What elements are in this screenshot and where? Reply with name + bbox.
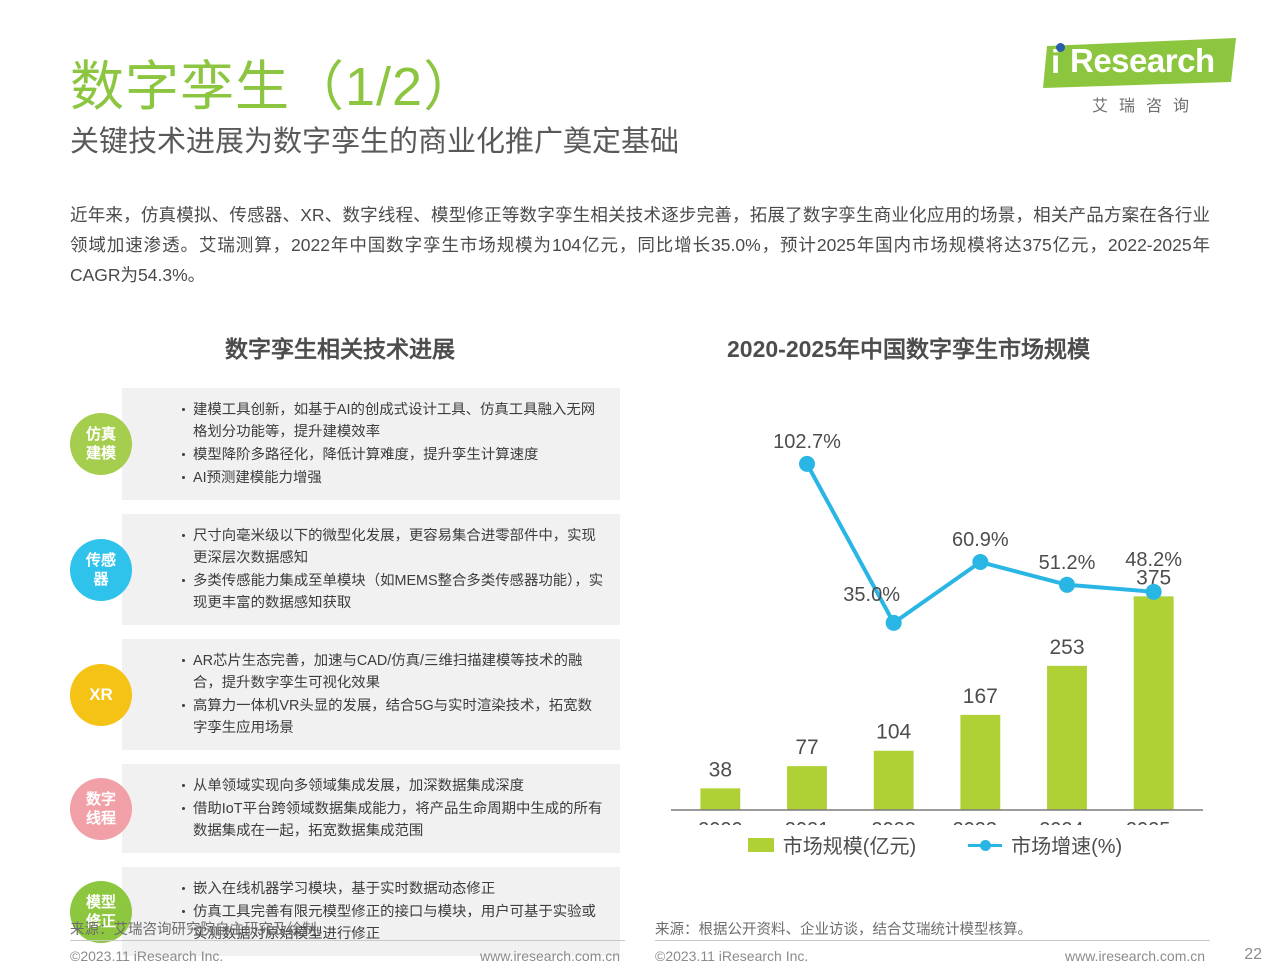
tech-bullet-item: AI预测建模能力增强 bbox=[180, 467, 606, 489]
left-panel-title: 数字孪生相关技术进展 bbox=[225, 330, 455, 364]
page-subtitle: 关键技术进展为数字孪生的商业化推广奠定基础 bbox=[70, 118, 679, 160]
bar bbox=[1047, 666, 1087, 810]
tech-bullet-list: 建模工具创新，如基于AI的创成式设计工具、仿真工具融入无网格划分功能等，提升建模… bbox=[180, 399, 606, 489]
tech-row: XRAR芯片生态完善，加速与CAD/仿真/三维扫描建模等技术的融合，提升数字孪生… bbox=[122, 639, 620, 750]
tech-badge: 数字线程 bbox=[70, 778, 132, 840]
logo-badge: i Research bbox=[1043, 38, 1238, 88]
legend-swatch-icon bbox=[748, 838, 774, 852]
market-size-chart: 3877104167253375102.7%35.0%60.9%51.2%48.… bbox=[655, 375, 1215, 875]
page-number: 22 bbox=[1244, 946, 1262, 964]
tech-bullet-item: 多类传感能力集成至单模块（如MEMS整合多类传感器功能），实现更丰富的数据感知获… bbox=[180, 570, 606, 614]
intro-paragraph: 近年来，仿真模拟、传感器、XR、数字线程、模型修正等数字孪生相关技术逐步完善，拓… bbox=[70, 200, 1210, 290]
tech-bullet-item: 借助IoT平台跨领域数据集成能力，将产品生命周期中生成的所有数据集成在一起，拓宽… bbox=[180, 798, 606, 842]
tech-bullet-list: AR芯片生态完善，加速与CAD/仿真/三维扫描建模等技术的融合，提升数字孪生可视… bbox=[180, 650, 606, 739]
tech-progress-list: 仿真建模建模工具创新，如基于AI的创成式设计工具、仿真工具融入无网格划分功能等，… bbox=[70, 388, 620, 970]
bar bbox=[1134, 596, 1174, 810]
logo-wordmark: Research bbox=[1070, 42, 1215, 80]
right-source-note: 来源：根据公开资料、企业访谈，结合艾瑞统计模型核算。 bbox=[655, 918, 1032, 939]
bar-group: 167 bbox=[960, 685, 1000, 810]
tech-badge-line1: 数字 bbox=[86, 790, 116, 809]
slide-page: 数字孪生（1/2） 关键技术进展为数字孪生的商业化推广奠定基础 i Resear… bbox=[0, 0, 1280, 960]
page-title: 数字孪生（1/2） bbox=[70, 42, 478, 121]
x-axis-tick-label: 2024e bbox=[1039, 819, 1095, 825]
x-axis-tick-label: 2025e bbox=[1126, 819, 1182, 825]
chart-legend: 市场规模(亿元) 市场增速(%) bbox=[655, 830, 1215, 859]
x-axis-tick-label: 2023e bbox=[953, 819, 1009, 825]
tech-bullet-item: 建模工具创新，如基于AI的创成式设计工具、仿真工具融入无网格划分功能等，提升建模… bbox=[180, 399, 606, 443]
bar-value-label: 104 bbox=[876, 721, 911, 744]
line-value-label: 102.7% bbox=[773, 431, 841, 453]
bar-value-label: 77 bbox=[795, 736, 818, 759]
tech-bullet-item: 尺寸向毫米级以下的微型化发展，更容易集合进零部件中，实现更深层次数据感知 bbox=[180, 525, 606, 569]
line-value-label: 35.0% bbox=[843, 584, 900, 606]
tech-bullet-item: AR芯片生态完善，加速与CAD/仿真/三维扫描建模等技术的融合，提升数字孪生可视… bbox=[180, 650, 606, 694]
bar bbox=[960, 715, 1000, 810]
bar bbox=[874, 751, 914, 810]
tech-bullet-item: 从单领域实现向多领域集成发展，加深数据集成深度 bbox=[180, 775, 606, 797]
bar-value-label: 38 bbox=[709, 758, 732, 781]
left-source-note: 来源：艾瑞咨询研究院自主研究及绘制。 bbox=[70, 918, 331, 939]
tech-bullet-item: 高算力一体机VR头显的发展，结合5G与实时渲染技术，拓宽数字孪生应用场景 bbox=[180, 695, 606, 739]
chart-title: 2020-2025年中国数字孪生市场规模 bbox=[727, 330, 1090, 364]
legend-label-line: 市场增速(%) bbox=[1011, 830, 1122, 859]
tech-badge: 传感器 bbox=[70, 539, 132, 601]
chart-canvas: 3877104167253375102.7%35.0%60.9%51.2%48.… bbox=[655, 375, 1215, 825]
tech-bullet-list: 尺寸向毫米级以下的微型化发展，更容易集合进零部件中，实现更深层次数据感知多类传感… bbox=[180, 525, 606, 614]
footer-divider-left bbox=[70, 940, 625, 941]
tech-badge-line2: 线程 bbox=[86, 809, 116, 828]
tech-badge-line2: 建模 bbox=[86, 444, 116, 463]
bar bbox=[787, 766, 827, 810]
iresearch-logo: i Research 艾瑞咨询 bbox=[1043, 38, 1238, 88]
legend-item-line: 市场增速(%) bbox=[968, 830, 1122, 859]
line-point bbox=[799, 456, 815, 472]
tech-badge-line2: 器 bbox=[93, 570, 108, 589]
footer-divider-right bbox=[655, 940, 1210, 941]
line-value-label: 51.2% bbox=[1039, 552, 1096, 574]
tech-badge-line1: 传感 bbox=[86, 551, 116, 570]
line-point bbox=[1146, 584, 1162, 600]
line-point bbox=[1059, 577, 1075, 593]
tech-badge: XR bbox=[70, 664, 132, 726]
legend-label-bar: 市场规模(亿元) bbox=[783, 830, 916, 859]
line-value-label: 60.9% bbox=[952, 529, 1009, 551]
tech-badge-line1: XR bbox=[89, 685, 113, 704]
legend-item-bar: 市场规模(亿元) bbox=[748, 830, 916, 859]
footer-url-right: www.iresearch.com.cn bbox=[1065, 948, 1205, 964]
tech-badge: 仿真建模 bbox=[70, 413, 132, 475]
footer-copyright-right: ©2023.11 iResearch Inc. bbox=[655, 948, 808, 964]
legend-line-icon bbox=[968, 838, 1002, 852]
bar-value-label: 253 bbox=[1049, 636, 1084, 659]
logo-chinese-name: 艾瑞咨询 bbox=[1043, 92, 1238, 116]
bar-group: 77 bbox=[787, 736, 827, 810]
logo-dot-icon bbox=[1056, 43, 1065, 52]
line-point bbox=[972, 554, 988, 570]
bar bbox=[700, 788, 740, 810]
tech-row: 传感器尺寸向毫米级以下的微型化发展，更容易集合进零部件中，实现更深层次数据感知多… bbox=[122, 514, 620, 625]
bar-group: 38 bbox=[700, 758, 740, 810]
tech-bullet-list: 从单领域实现向多领域集成发展，加深数据集成深度借助IoT平台跨领域数据集成能力，… bbox=[180, 775, 606, 842]
x-axis-tick-label: 2022 bbox=[871, 819, 916, 825]
x-axis-tick-label: 2021 bbox=[785, 819, 830, 825]
bar-group: 253 bbox=[1047, 636, 1087, 810]
tech-row: 数字线程从单领域实现向多领域集成发展，加深数据集成深度借助IoT平台跨领域数据集… bbox=[122, 764, 620, 853]
x-axis-tick-label: 2020 bbox=[698, 819, 743, 825]
bar-value-label: 167 bbox=[963, 685, 998, 708]
tech-bullet-item: 嵌入在线机器学习模块，基于实时数据动态修正 bbox=[180, 878, 606, 900]
bar-group: 104 bbox=[874, 721, 914, 810]
bar-group: 375 bbox=[1134, 566, 1174, 810]
footer-url-left: www.iresearch.com.cn bbox=[480, 948, 620, 964]
tech-badge-line1: 模型 bbox=[86, 893, 116, 912]
tech-row: 仿真建模建模工具创新，如基于AI的创成式设计工具、仿真工具融入无网格划分功能等，… bbox=[122, 388, 620, 500]
tech-row: 模型修正嵌入在线机器学习模块，基于实时数据动态修正仿真工具完善有限元模型修正的接… bbox=[122, 867, 620, 956]
tech-badge-line1: 仿真 bbox=[86, 425, 116, 444]
tech-bullet-item: 模型降阶多路径化，降低计算难度，提升孪生计算速度 bbox=[180, 444, 606, 466]
footer-copyright-left: ©2023.11 iResearch Inc. bbox=[70, 948, 223, 964]
line-value-label: 48.2% bbox=[1125, 549, 1182, 571]
line-point bbox=[886, 615, 902, 631]
